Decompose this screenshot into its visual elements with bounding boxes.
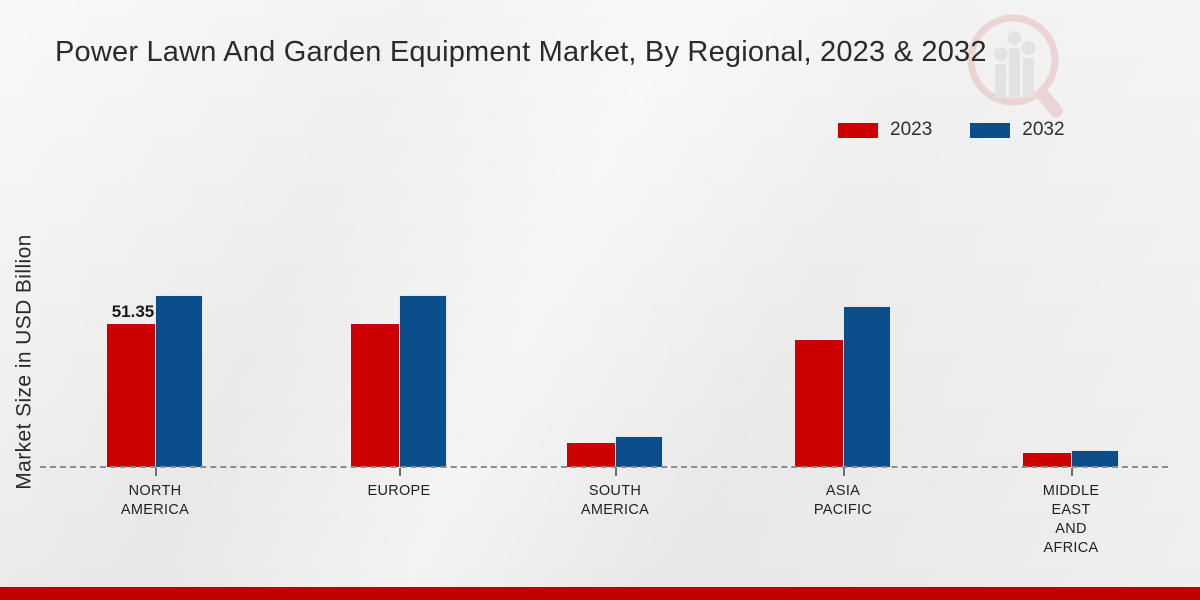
footer-accent-bar — [0, 587, 1200, 600]
bar-2023-1[interactable] — [107, 324, 155, 467]
chart-canvas: Power Lawn And Garden Equipment Market, … — [0, 0, 1200, 600]
bar-value-label: 51.35 — [105, 302, 161, 322]
plot-area: 51.35NORTH AMERICAEUROPESOUTH AMERICAASI… — [40, 150, 1170, 467]
bar-2032-2[interactable] — [399, 295, 447, 467]
bar-2023-3[interactable] — [567, 443, 615, 467]
bar-group: MIDDLE EAST AND AFRICA — [1023, 150, 1119, 467]
legend-swatch-2032 — [970, 123, 1010, 138]
bar-2032-4[interactable] — [843, 306, 891, 467]
legend-item-2032[interactable]: 2032 — [970, 119, 1064, 141]
legend-label-2023: 2023 — [890, 119, 932, 141]
bar-2023-2[interactable] — [351, 324, 399, 467]
chart-title: Power Lawn And Garden Equipment Market, … — [55, 36, 1145, 69]
x-axis-tick — [843, 468, 845, 476]
bar-group: 51.35NORTH AMERICA — [107, 150, 203, 467]
chart-legend: 2023 2032 — [838, 119, 1065, 141]
bar-2023-4[interactable] — [795, 340, 843, 467]
bar-2032-3[interactable] — [615, 436, 663, 467]
bar-group: ASIA PACIFIC — [795, 150, 891, 467]
y-axis-title: Market Size in USD Billion — [13, 190, 37, 535]
x-axis-tick — [1071, 468, 1073, 476]
bar-group: EUROPE — [351, 150, 447, 467]
legend-swatch-2023 — [838, 123, 878, 138]
x-axis-baseline — [40, 466, 1168, 468]
bar-2032-1[interactable] — [155, 295, 203, 467]
x-axis-category-label: NORTH AMERICA — [43, 482, 267, 520]
legend-item-2023[interactable]: 2023 — [838, 119, 932, 141]
x-axis-category-label: MIDDLE EAST AND AFRICA — [959, 482, 1183, 558]
bar-group: SOUTH AMERICA — [567, 150, 663, 467]
x-axis-tick — [399, 468, 401, 476]
x-axis-category-label: ASIA PACIFIC — [731, 482, 955, 520]
legend-label-2032: 2032 — [1022, 119, 1064, 141]
x-axis-category-label: SOUTH AMERICA — [503, 482, 727, 520]
x-axis-tick — [155, 468, 157, 476]
bar-2032-5[interactable] — [1071, 450, 1119, 467]
x-axis-tick — [615, 468, 617, 476]
bar-2023-5[interactable] — [1023, 453, 1071, 467]
x-axis-category-label: EUROPE — [287, 482, 511, 501]
